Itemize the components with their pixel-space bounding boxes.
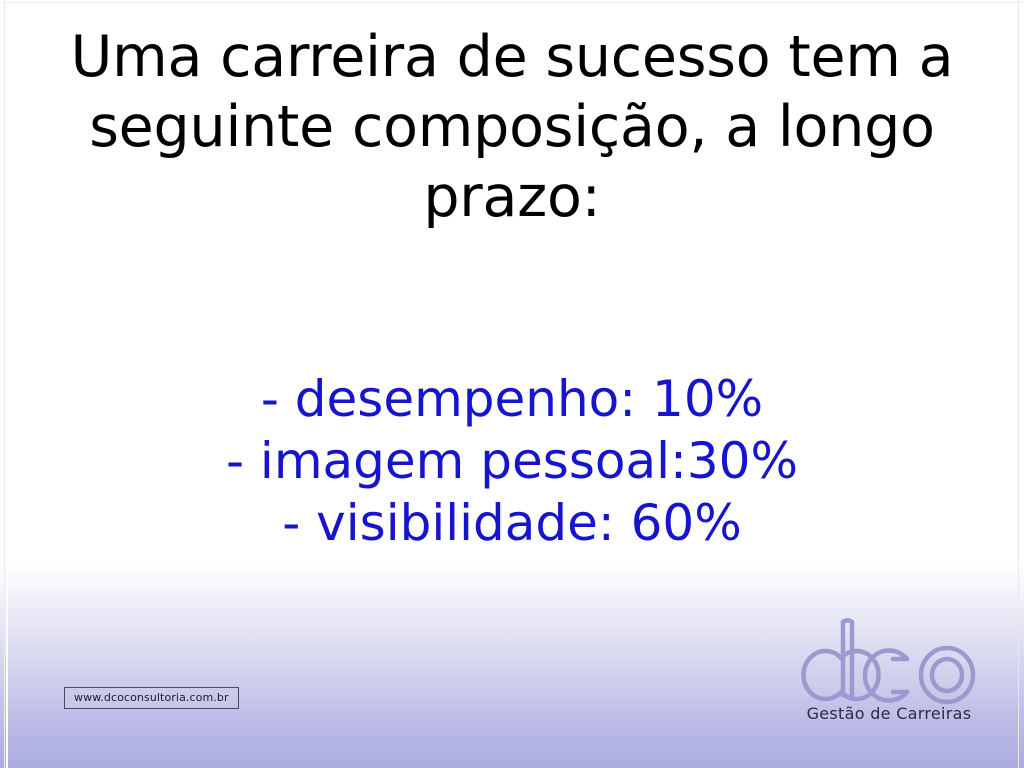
bullet-item-visibilidade: - visibilidade: 60% (24, 492, 1000, 554)
bullet-item-imagem-pessoal: - imagem pessoal:30% (24, 430, 1000, 492)
bullet-list: - desempenho: 10% - imagem pessoal:30% -… (0, 368, 1024, 554)
title-line-1: Uma carreira de sucesso tem a (24, 22, 1000, 92)
slide-canvas: Uma carreira de sucesso tem a seguinte c… (0, 0, 1024, 768)
dco-wordmark-icon (791, 612, 987, 708)
dco-logo: Gestão de Carreiras (784, 612, 994, 724)
frame-edge-top (0, 2, 1024, 3)
slide-title: Uma carreira de sucesso tem a seguinte c… (0, 22, 1024, 232)
title-line-3: prazo: (24, 162, 1000, 232)
dco-logo-tagline: Gestão de Carreiras (784, 704, 994, 724)
title-line-2: seguinte composição, a longo (24, 92, 1000, 162)
website-url-plate: www.dcoconsultoria.com.br (64, 687, 239, 709)
bullet-item-desempenho: - desempenho: 10% (24, 368, 1000, 430)
